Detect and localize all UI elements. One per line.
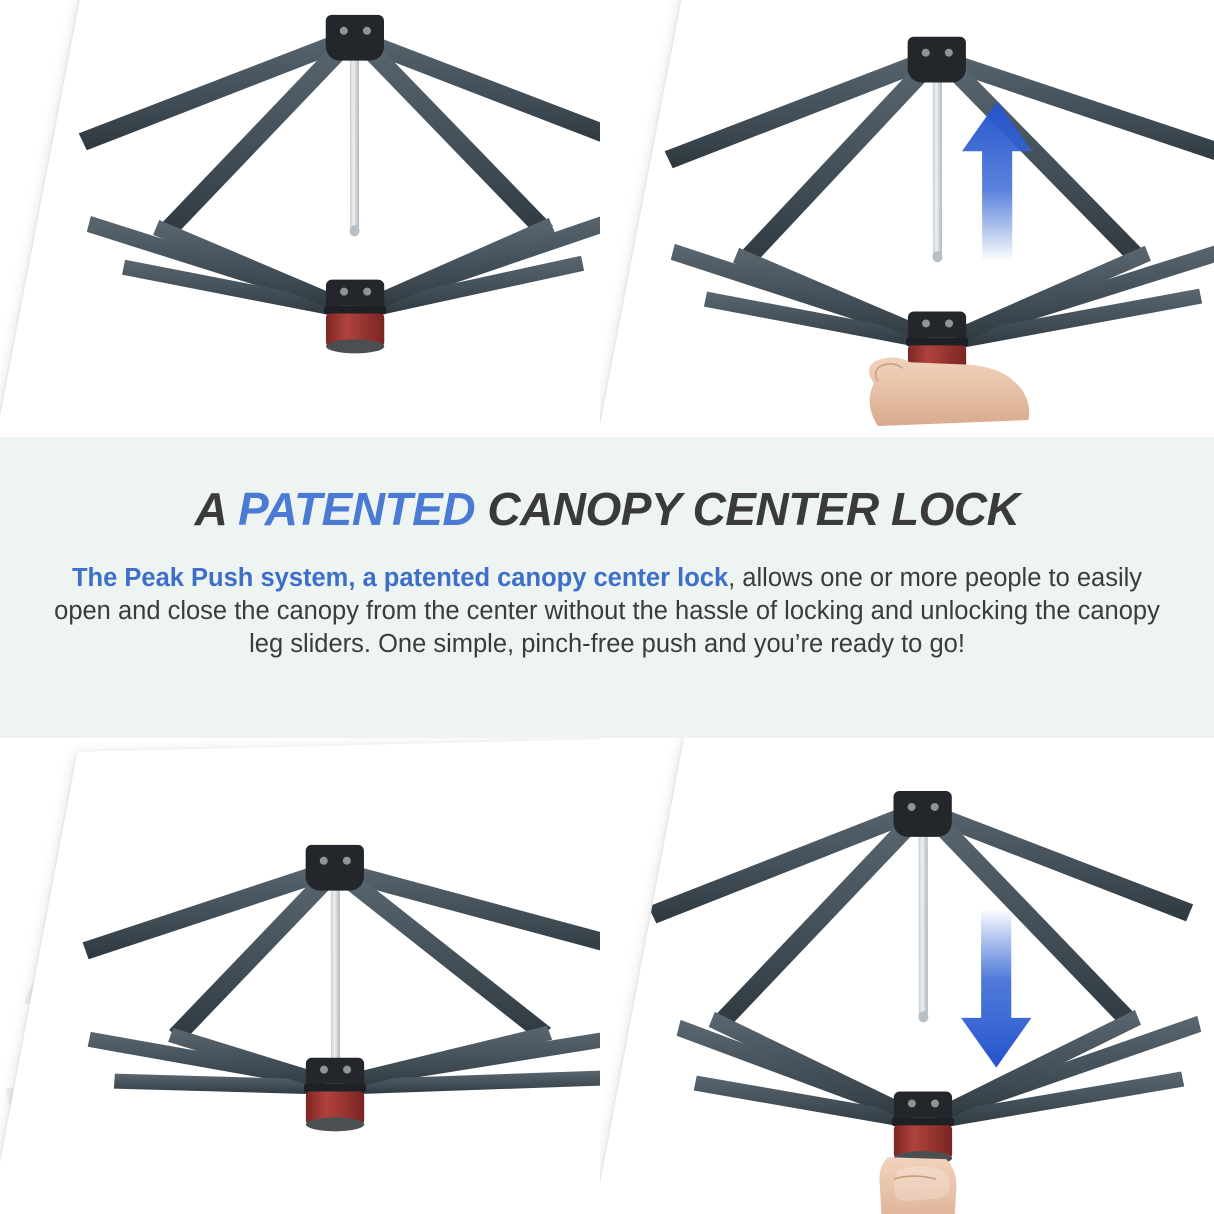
canopy-frame-illustration-4 [634, 738, 1214, 1214]
panel-row-bottom: 3 [0, 738, 1214, 1214]
photo-card-4 [600, 738, 1214, 1214]
feature-description-lead: The Peak Push system, a patented canopy … [72, 564, 728, 592]
photo-card-4-content [634, 738, 1214, 1214]
hand-illustration-4 [879, 1157, 956, 1214]
panel-step-2: 2 [600, 0, 1214, 437]
panel-step-3: 3 [0, 738, 600, 1214]
photo-card-2 [600, 0, 1214, 437]
photo-card-1 [0, 0, 600, 437]
arrow-up-icon [962, 101, 1032, 260]
infographic-page: 1 [0, 0, 1214, 1214]
page-title: A PATENTED CANOPY CENTER LOCK [195, 486, 1020, 532]
photo-card-2-content [640, 0, 1214, 437]
headline-part-1: A [195, 483, 238, 535]
headline-highlight: PATENTED [238, 483, 475, 535]
photo-card-3-content [28, 745, 600, 1214]
feature-text-band: A PATENTED CANOPY CENTER LOCK The Peak P… [0, 437, 1214, 738]
photo-card-3 [0, 738, 600, 1214]
photo-card-1-content [38, 0, 600, 437]
arrow-down-icon [961, 908, 1032, 1067]
canopy-frame-illustration-1 [38, 0, 600, 437]
headline-part-3: CANOPY CENTER LOCK [475, 483, 1019, 535]
hand-illustration-2 [869, 357, 1029, 426]
panel-step-4: 4 [600, 738, 1214, 1214]
canopy-frame-illustration-2 [640, 0, 1214, 437]
panel-step-1: 1 [0, 0, 600, 437]
panel-row-top: 1 [0, 0, 1214, 437]
canopy-frame-illustration-3 [28, 745, 600, 1214]
feature-description: The Peak Push system, a patented canopy … [47, 562, 1167, 661]
